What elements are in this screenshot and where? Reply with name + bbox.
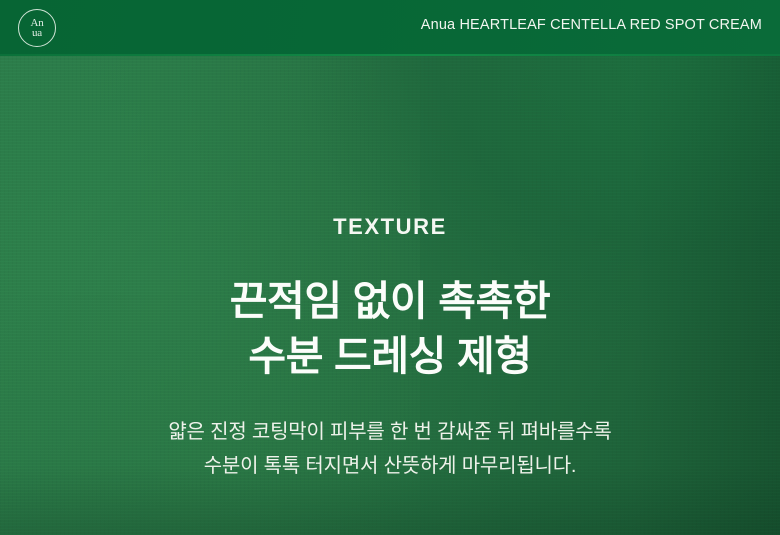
top-header-bar: An ua Anua HEARTLEAF CENTELLA RED SPOT C…	[0, 0, 780, 56]
description-paragraph: 얇은 진정 코팅막이 피부를 한 번 감싸준 뒤 펴바를수록 수분이 톡톡 터지…	[0, 415, 780, 484]
slide-content: TEXTURE 끈적임 없이 촉촉한 수분 드레싱 제형 얇은 진정 코팅막이 …	[0, 56, 780, 535]
section-eyebrow-texture: TEXTURE	[0, 214, 780, 240]
headline-line-2: 수분 드레싱 제형	[0, 329, 780, 384]
description-line-1: 얇은 진정 코팅막이 피부를 한 번 감싸준 뒤 펴바를수록	[0, 415, 780, 449]
description-line-2: 수분이 톡톡 터지면서 산뜻하게 마무리됩니다.	[0, 449, 780, 483]
product-texture-slide: An ua Anua HEARTLEAF CENTELLA RED SPOT C…	[0, 0, 780, 535]
product-name-title: Anua HEARTLEAF CENTELLA RED SPOT CREAM	[421, 17, 762, 33]
anua-circle-logo: An ua	[18, 9, 56, 47]
headline-line-1: 끈적임 없이 촉촉한	[0, 274, 780, 329]
logo-text-line-2: ua	[32, 28, 42, 39]
headline: 끈적임 없이 촉촉한 수분 드레싱 제형	[0, 274, 780, 383]
